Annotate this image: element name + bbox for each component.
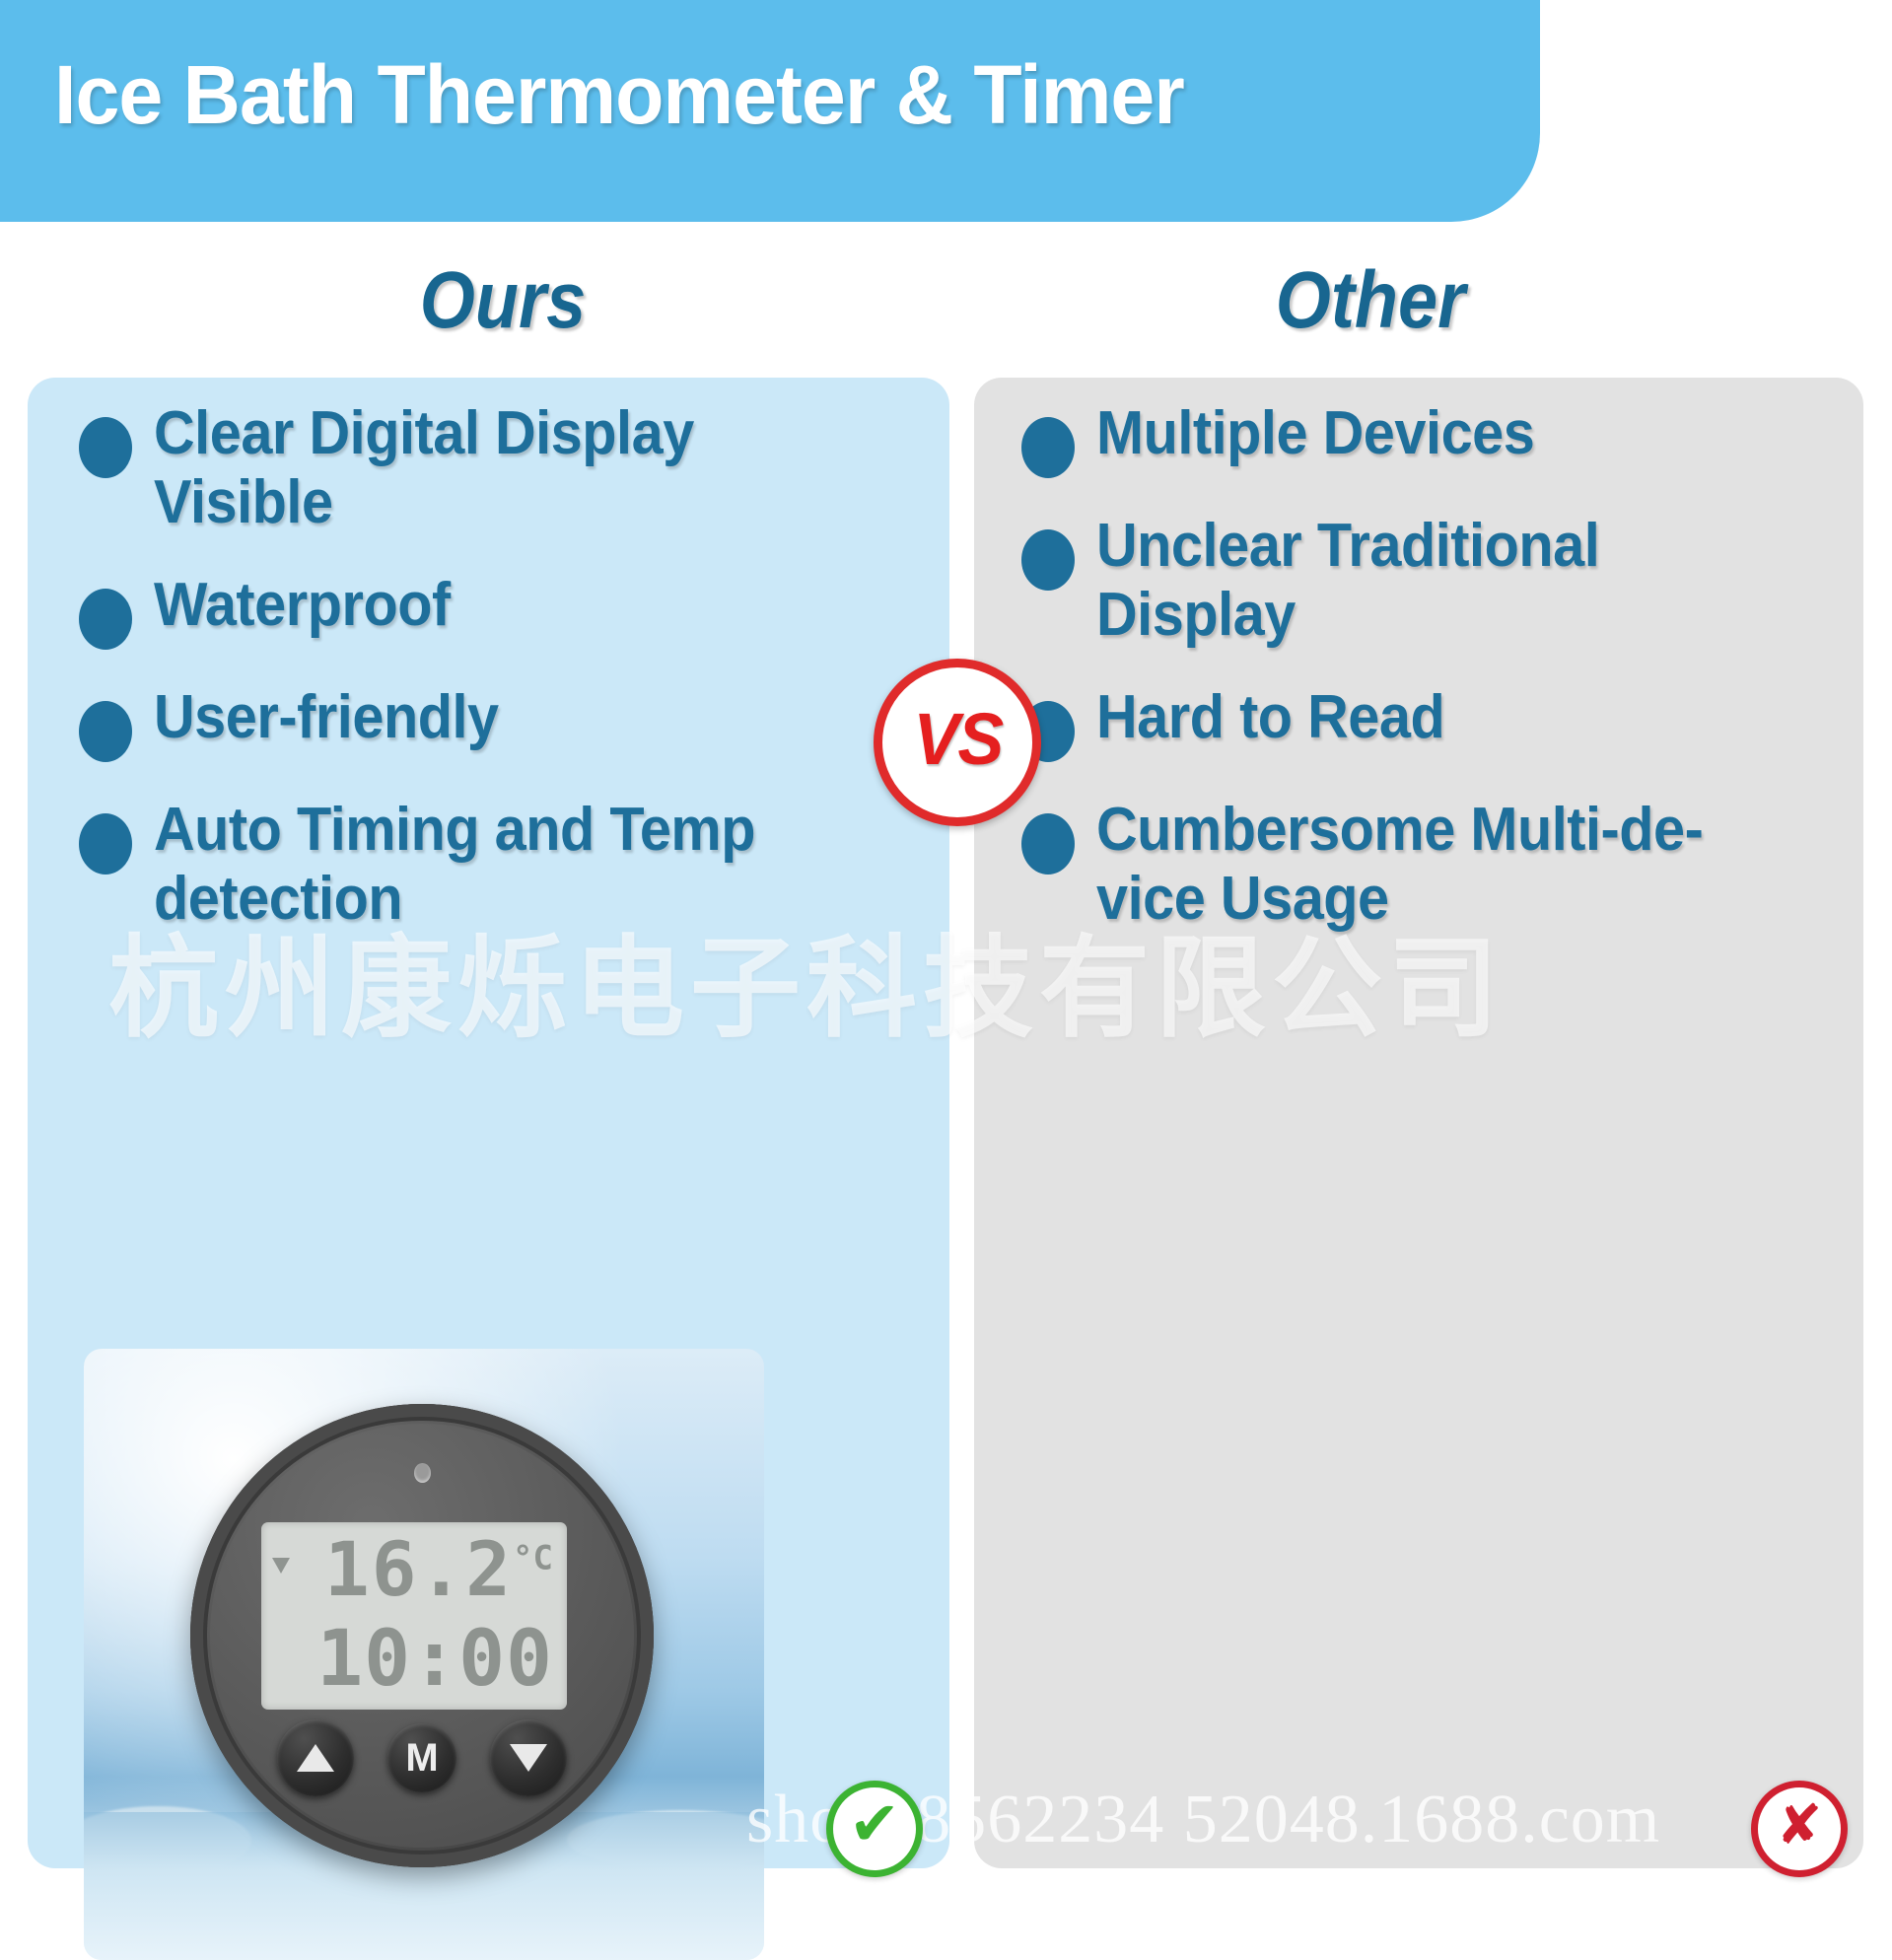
bullet-dot-icon	[79, 813, 132, 875]
checkmark-badge: ✔	[826, 1781, 923, 1877]
bullet-dot-icon	[1021, 417, 1075, 478]
device-face: 16.2°C 10:00 M	[210, 1424, 634, 1848]
vs-label: VS	[913, 703, 1002, 776]
mode-button[interactable]: M	[387, 1723, 456, 1792]
lcd-temperature-unit: °C	[513, 1539, 553, 1578]
list-item: Unclear Traditional Display	[1021, 512, 1830, 650]
bullet-dot-icon	[79, 701, 132, 762]
led-indicator-icon	[414, 1463, 431, 1483]
lcd-screen: 16.2°C 10:00	[261, 1522, 567, 1710]
bullet-dot-icon	[1021, 813, 1075, 875]
up-button[interactable]	[277, 1719, 354, 1796]
bullet-dot-icon	[79, 417, 132, 478]
other-bullet-2: Unclear Traditional Display	[1096, 512, 1779, 650]
cross-icon: ✘	[1777, 1797, 1823, 1853]
down-button[interactable]	[490, 1719, 567, 1796]
mode-button-label: M	[405, 1738, 438, 1778]
ours-product-photo: 16.2°C 10:00 M	[84, 1349, 764, 1960]
check-icon: ✔	[849, 1794, 900, 1855]
bullet-dot-icon	[79, 589, 132, 650]
header-banner: Ice Bath Thermometer & Timer	[0, 0, 1540, 222]
ours-bullet-1: Clear Digital Display Visible	[154, 399, 845, 537]
digital-thermometer-device: 16.2°C 10:00 M	[190, 1404, 654, 1867]
ours-bullet-2: Waterproof	[154, 571, 845, 640]
ours-bullet-4: Auto Timing and Temp detection	[154, 796, 845, 934]
vs-badge: VS	[874, 659, 1041, 826]
list-item: Hard to Read	[1021, 683, 1830, 762]
cross-badge: ✘	[1751, 1781, 1848, 1877]
ours-panel: Clear Digital Display Visible Waterproof…	[28, 378, 949, 1868]
other-bullet-list: Multiple Devices Unclear Traditional Dis…	[1021, 399, 1830, 967]
lcd-timer-readout: 10:00	[261, 1621, 553, 1698]
triangle-down-icon	[510, 1744, 547, 1772]
other-panel: Multiple Devices Unclear Traditional Dis…	[974, 378, 1863, 1868]
ours-heading: Ours	[320, 254, 685, 347]
page-title: Ice Bath Thermometer & Timer	[54, 47, 1184, 143]
lcd-temperature-readout: 16.2°C	[324, 1532, 553, 1607]
ours-bullet-list: Clear Digital Display Visible Waterproof…	[79, 399, 897, 967]
other-bullet-3: Hard to Read	[1096, 683, 1779, 752]
list-item: Clear Digital Display Visible	[79, 399, 897, 537]
list-item: Auto Timing and Temp detection	[79, 796, 897, 934]
other-bullet-1: Multiple Devices	[1096, 399, 1779, 468]
device-button-row: M	[210, 1719, 634, 1796]
other-heading: Other	[1188, 254, 1553, 347]
list-item: Multiple Devices	[1021, 399, 1830, 478]
triangle-up-icon	[297, 1744, 334, 1772]
infographic-canvas: Ice Bath Thermometer & Timer Ours Other …	[0, 0, 1892, 1892]
list-item: User-friendly	[79, 683, 897, 762]
bullet-dot-icon	[1021, 529, 1075, 591]
lcd-temperature-value: 16.2	[324, 1525, 513, 1613]
lcd-arrow-icon	[272, 1558, 290, 1574]
list-item: Waterproof	[79, 571, 897, 650]
ours-bullet-3: User-friendly	[154, 683, 845, 752]
other-bullet-4: Cumbersome Multi-de-vice Usage	[1096, 796, 1779, 934]
list-item: Cumbersome Multi-de-vice Usage	[1021, 796, 1830, 934]
